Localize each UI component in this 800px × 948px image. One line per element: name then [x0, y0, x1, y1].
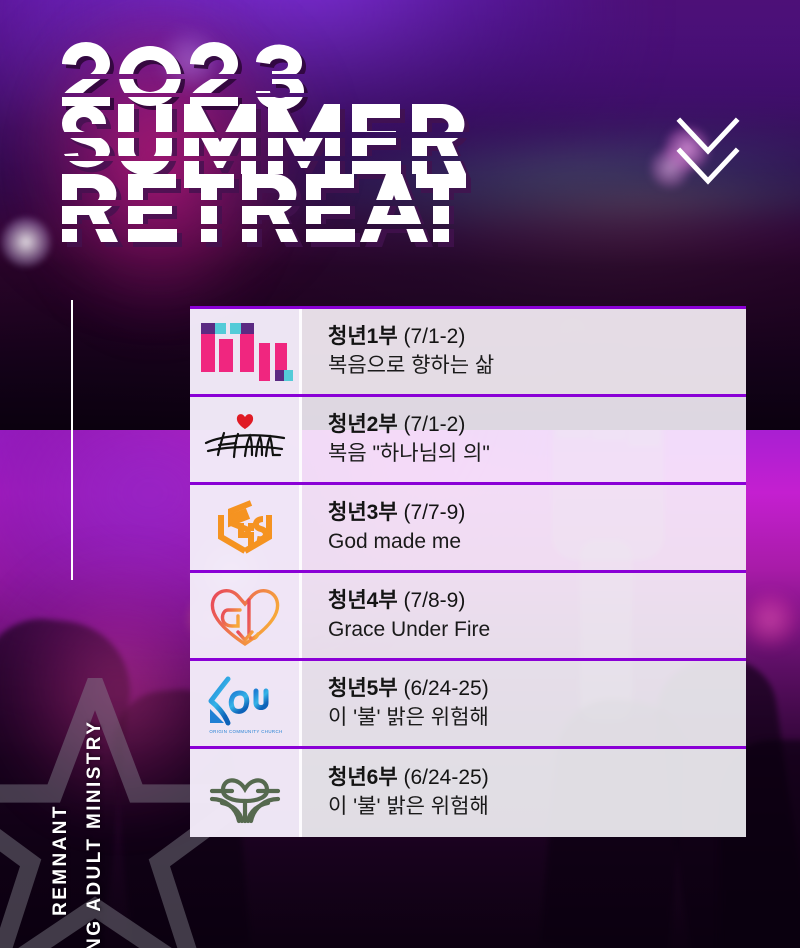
- row-theme: 복음 "하나님의 의": [328, 440, 746, 468]
- heart-outline-g-logo: [190, 573, 302, 658]
- row-theme: 이 '불' 밝은 위험해: [328, 793, 746, 821]
- row-info: 청년5부 (6/24-25) 이 '불' 밝은 위험해: [302, 661, 746, 746]
- row-info: 청년4부 (7/8-9) Grace Under Fire: [302, 573, 746, 658]
- row-dates: (6/24-25): [403, 766, 488, 789]
- orange-cube-monogram-logo-icon: [207, 493, 283, 563]
- row-title: 청년4부 (7/8-9): [328, 587, 746, 614]
- heart-outline-g-logo-icon: [204, 582, 286, 650]
- row-theme: Grace Under Fire: [328, 616, 746, 644]
- row-group: 청년6부: [328, 766, 398, 789]
- row-group: 청년4부: [328, 589, 398, 612]
- row-group: 청년2부: [328, 413, 398, 436]
- poster-title-block: 2023: [60, 46, 530, 248]
- ham-script-heart-logo-icon: [198, 409, 292, 471]
- table-row[interactable]: 청년6부 (6/24-25) 이 '불' 밝은 위험해: [190, 749, 746, 837]
- title-year-svg: [60, 46, 320, 108]
- table-row[interactable]: ORIGIN COMMUNITY CHURCH 청년5부 (6/24-25) 이…: [190, 661, 746, 749]
- row-group: 청년1부: [328, 325, 398, 348]
- bokeh-circle-1: [0, 216, 52, 268]
- green-tree-heart-logo: [190, 749, 302, 837]
- koym-blue-logo-icon: ORIGIN COMMUNITY CHURCH: [200, 671, 290, 737]
- title-retreat-svg: [60, 172, 470, 248]
- row-theme: God made me: [328, 528, 746, 556]
- row-dates: (7/7-9): [403, 501, 465, 524]
- row-theme: 이 '불' 밝은 위험해: [328, 704, 746, 732]
- green-tree-heart-logo-icon: [202, 761, 288, 825]
- row-title: 청년1부 (7/1-2): [328, 323, 746, 350]
- orange-cube-monogram-logo: [190, 485, 302, 570]
- table-row[interactable]: 청년4부 (7/8-9) Grace Under Fire: [190, 573, 746, 661]
- side-text-ministry: YOUNG ADULT MINISTRY: [84, 720, 106, 948]
- ml-bars-logo-icon: [197, 321, 293, 383]
- title-line-summer: SUMMER: [60, 102, 530, 180]
- row-info: 청년6부 (6/24-25) 이 '불' 밝은 위험해: [302, 749, 746, 837]
- side-text-ministry-wrap: YOUNG ADULT MINISTRY: [89, 300, 123, 860]
- row-dates: (7/1-2): [403, 413, 465, 436]
- row-info: 청년2부 (7/1-2) 복음 "하나님의 의": [302, 397, 746, 482]
- table-row[interactable]: 청년1부 (7/1-2) 복음으로 향하는 삶: [190, 309, 746, 397]
- bokeh-circle-7: [742, 592, 798, 648]
- row-group: 청년5부: [328, 677, 398, 700]
- ml-bars-logo: [190, 309, 302, 394]
- table-row[interactable]: 청년2부 (7/1-2) 복음 "하나님의 의": [190, 397, 746, 485]
- row-info: 청년3부 (7/7-9) God made me: [302, 485, 746, 570]
- retreat-poster: 2023: [0, 0, 800, 948]
- schedule-table: 청년1부 (7/1-2) 복음으로 향하는 삶: [190, 306, 746, 837]
- double-chevron-down-icon: [674, 115, 742, 187]
- koym-blue-logo: ORIGIN COMMUNITY CHURCH: [190, 661, 302, 746]
- row-theme: 복음으로 향하는 삶: [328, 352, 746, 380]
- row-title: 청년6부 (6/24-25): [328, 764, 746, 791]
- koym-logo-tagline: ORIGIN COMMUNITY CHURCH: [209, 729, 282, 734]
- row-info: 청년1부 (7/1-2) 복음으로 향하는 삶: [302, 309, 746, 394]
- row-dates: (7/1-2): [403, 325, 465, 348]
- title-line-year: 2023: [60, 46, 530, 108]
- side-vertical-text: REMNANT YOUNG ADULT MINISTRY: [55, 300, 123, 860]
- row-title: 청년2부 (7/1-2): [328, 411, 746, 438]
- side-text-divider-rule: [71, 300, 73, 580]
- row-dates: (7/8-9): [403, 589, 465, 612]
- row-dates: (6/24-25): [403, 677, 488, 700]
- row-title: 청년5부 (6/24-25): [328, 675, 746, 702]
- table-row[interactable]: 청년3부 (7/7-9) God made me: [190, 485, 746, 573]
- row-title: 청년3부 (7/7-9): [328, 499, 746, 526]
- ham-script-heart-logo: [190, 397, 302, 482]
- side-text-remnant: REMNANT: [50, 804, 72, 916]
- title-summer-svg: [60, 102, 480, 180]
- title-line-retreat: RETREAT: [60, 172, 530, 248]
- row-group: 청년3부: [328, 501, 398, 524]
